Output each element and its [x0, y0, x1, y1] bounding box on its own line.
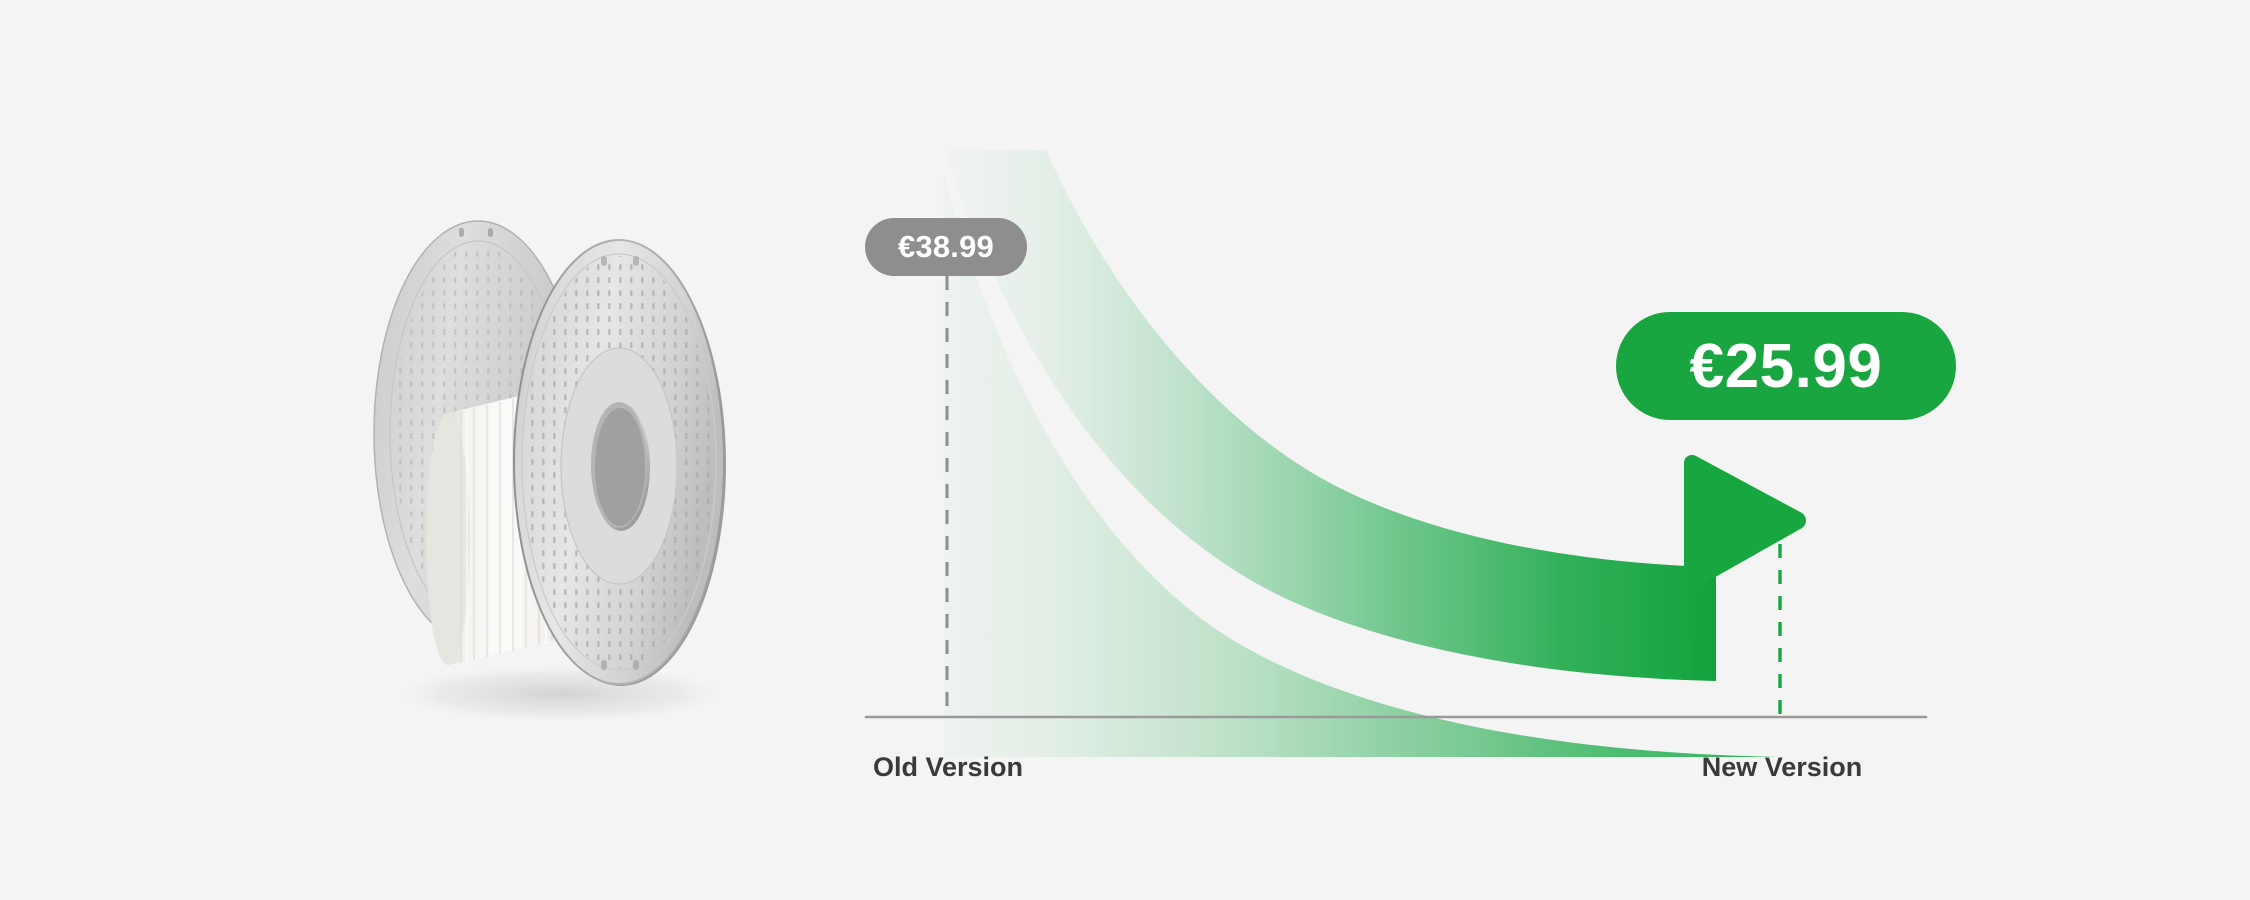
filament-spool-illustration	[330, 170, 750, 740]
new-price-badge: €25.99	[1616, 312, 1956, 420]
old-price-badge: €38.99	[865, 218, 1027, 276]
old-price-value: €38.99	[898, 229, 994, 265]
axis-label-new-version: New Version	[1682, 752, 1882, 783]
product-image	[330, 170, 750, 740]
new-price-value: €25.99	[1690, 331, 1883, 402]
comparison-graphic: €38.99 €25.99 Old Version New Version	[0, 0, 2250, 900]
price-drop-arrow-head	[1684, 455, 1806, 589]
axis-label-old-version: Old Version	[853, 752, 1043, 783]
spool-shadow	[385, 664, 735, 724]
front-spool-plate	[514, 240, 726, 686]
